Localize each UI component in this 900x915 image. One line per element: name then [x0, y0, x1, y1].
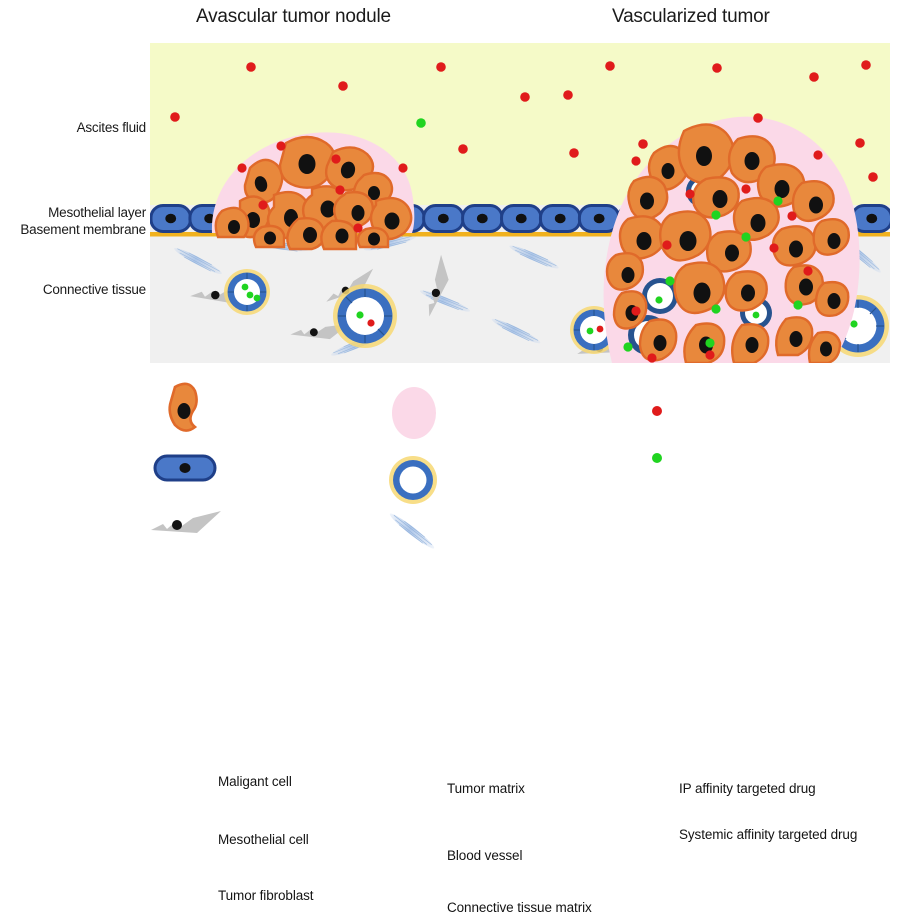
mesothelial-cell [502, 206, 542, 232]
malignant-cell [254, 226, 284, 247]
mesothelial-cell [424, 206, 464, 232]
malignant-cell [814, 219, 849, 254]
green-dot-icon [652, 453, 662, 463]
legend-label-systemic-drug: Systemic affinity targeted drug [679, 827, 857, 842]
malignant-cell [816, 282, 848, 316]
malignant-cell [809, 332, 840, 363]
fibroblast-icon [151, 511, 221, 533]
title-avascular-tumor-nodule: Avascular tumor nodule [196, 6, 391, 28]
malignant-cell [358, 228, 388, 247]
malignant-cell [732, 324, 768, 363]
malignant-cell [726, 271, 767, 310]
malignant-cell [321, 221, 356, 249]
malignant-cell-icon [170, 384, 197, 431]
legend-icons-canvas [0, 376, 900, 566]
mesothelial-cell-icon [155, 456, 215, 480]
malignant-cell [628, 177, 667, 220]
mesothelial-cell [852, 206, 890, 232]
malignant-cell [773, 226, 816, 265]
mesothelial-cell [540, 206, 580, 232]
tumor-matrix-icon [392, 387, 436, 439]
label-mesothelial-layer: Mesothelial layer [0, 205, 146, 220]
diagram-panel [150, 43, 890, 363]
legend-label-connective-matrix: Connective tissue matrix [447, 900, 592, 915]
label-basement-membrane: Basement membrane [0, 222, 146, 237]
malignant-cell [287, 218, 324, 249]
legend: Maligant cell Mesothelial cell Tumor fib… [0, 376, 900, 566]
legend-label-mesothelial-cell: Mesothelial cell [218, 832, 309, 847]
blood-vessel [224, 269, 270, 315]
red-dot-icon [652, 406, 662, 416]
label-connective-tissue: Connective tissue [0, 282, 146, 297]
malignant-cell [776, 317, 812, 355]
legend-label-tumor-fibroblast: Tumor fibroblast [218, 888, 313, 903]
malignant-cell [607, 253, 643, 289]
mesothelial-cell [579, 206, 619, 232]
figure-canvas: Avascular tumor nodule Vascularized tumo… [0, 0, 900, 566]
mesothelial-cell [151, 206, 191, 232]
blood-vessel-icon [389, 456, 437, 504]
connective-fiber-icon [388, 511, 437, 551]
mesothelial-cell [463, 206, 503, 232]
title-vascularized-tumor: Vascularized tumor [612, 6, 770, 28]
legend-label-tumor-matrix: Tumor matrix [447, 781, 525, 796]
malignant-cell [216, 208, 249, 237]
blood-vessel [333, 284, 397, 348]
legend-label-ip-drug: IP affinity targeted drug [679, 781, 816, 796]
label-ascites-fluid: Ascites fluid [0, 120, 146, 135]
legend-label-malignant-cell: Maligant cell [218, 774, 292, 789]
legend-label-blood-vessel: Blood vessel [447, 848, 522, 863]
